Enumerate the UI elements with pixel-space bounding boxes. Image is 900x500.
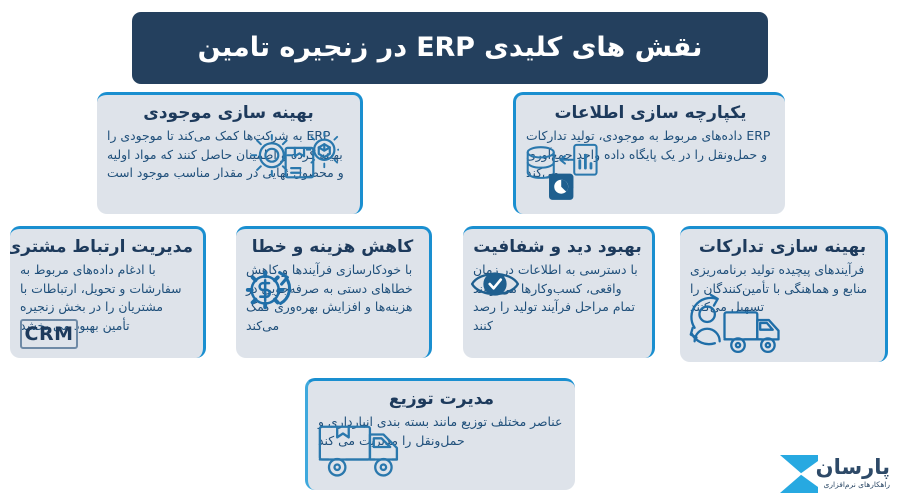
logo-text: پارسان راهکارهای نرم‌افزاری <box>816 457 890 489</box>
logo-chevron-mark <box>778 455 818 493</box>
card-inventory-heading: بهینه سازی موجودی <box>107 103 350 124</box>
page-title: نقش های کلیدی ERP در زنجیره تامین <box>198 30 703 66</box>
card-integration-body: ERP داده‌های مربوط به موجودی، تولید تدار… <box>526 127 775 183</box>
card-procurement-body: فرآیندهای پیچیده تولید برنامه‌ریزی منابع… <box>690 261 875 317</box>
card-distribution-management: مدیرت توزیع عناصر مختلف توزیع مانند بسته… <box>305 378 575 490</box>
card-crm-heading: مدیریت ارتباط مشتری <box>20 237 193 258</box>
card-customer-relationship: مدیریت ارتباط مشتری CRM با ادغام داده‌ها… <box>10 226 206 358</box>
card-procurement-heading: بهینه سازی تدارکات <box>690 237 875 258</box>
page-title-banner: نقش های کلیدی ERP در زنجیره تامین <box>132 12 768 84</box>
card-inventory-body: ERP به شرکت‌ها کمک می‌کند تا موجودی را ب… <box>107 127 350 183</box>
brand-logo: پارسان راهکارهای نرم‌افزاری <box>778 455 890 495</box>
card-integration-heading: یکپارچه سازی اطلاعات <box>526 103 775 124</box>
card-cost-body: با خودکارسازی فرآیندها و کاهش خطاهای دست… <box>246 261 419 335</box>
card-visibility-heading: بهبود دید و شفافیت <box>473 237 642 258</box>
card-visibility-transparency: بهبود دید و شفافیت با دسترسی به اطلاعات … <box>463 226 655 358</box>
card-cost-heading: کاهش هزینه و خطا <box>246 237 419 258</box>
logo-name: پارسان <box>816 457 890 478</box>
card-procurement-optimization: بهینه سازی تدارکات <box>680 226 888 362</box>
card-crm-body: با ادغام داده‌های مربوط به سفارشات و تحو… <box>20 261 193 335</box>
card-distribution-heading: مدیرت توزیع <box>318 389 565 410</box>
card-distribution-body: عناصر مختلف توزیع مانند بسته بندی انبارد… <box>318 413 565 450</box>
card-inventory-optimization: بهینه سازی موجودی <box>97 92 363 214</box>
card-visibility-body: با دسترسی به اطلاعات در زمان واقعی، کسب‌… <box>473 261 642 335</box>
card-information-integration: یکپارچه سازی اطلاعات <box>513 92 785 214</box>
card-cost-error-reduction: کاهش هزینه و خطا با خودکارسازی فرآیندها … <box>236 226 432 358</box>
logo-tagline: راهکارهای نرم‌افزاری <box>816 481 890 489</box>
